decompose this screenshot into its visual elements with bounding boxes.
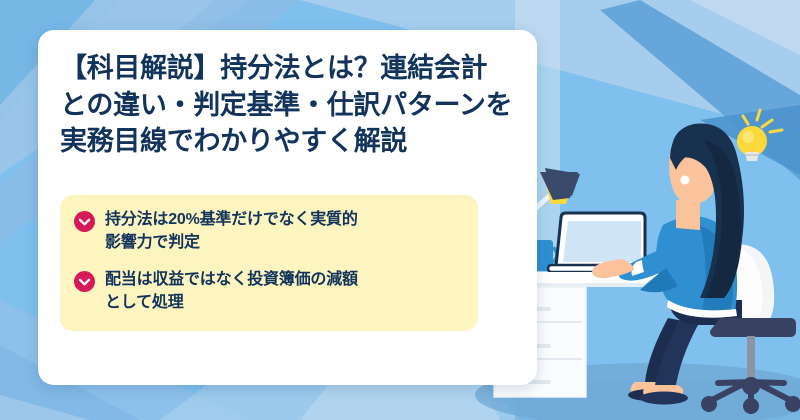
check-circle-icon — [74, 271, 95, 292]
check-circle-icon — [74, 211, 95, 232]
list-item-label: 持分法は20%基準だけでなく実質的 影響力で判定 — [105, 209, 358, 255]
key-points-box: 持分法は20%基準だけでなく実質的 影響力で判定 配当は収益ではなく投資簿価の減… — [60, 195, 478, 331]
list-item: 配当は収益ではなく投資簿価の減額 として処理 — [74, 269, 462, 315]
thumbnail-canvas: 【科目解説】持分法とは？連結会計 との違い・判定基準・仕訳パターンを 実務目線で… — [0, 0, 800, 420]
content-card: 【科目解説】持分法とは？連結会計 との違い・判定基準・仕訳パターンを 実務目線で… — [38, 30, 537, 385]
list-item-label: 配当は収益ではなく投資簿価の減額 として処理 — [105, 269, 358, 315]
page-title: 【科目解説】持分法とは？連結会計 との違い・判定基準・仕訳パターンを 実務目線で… — [60, 50, 520, 160]
list-item: 持分法は20%基準だけでなく実質的 影響力で判定 — [74, 209, 462, 255]
